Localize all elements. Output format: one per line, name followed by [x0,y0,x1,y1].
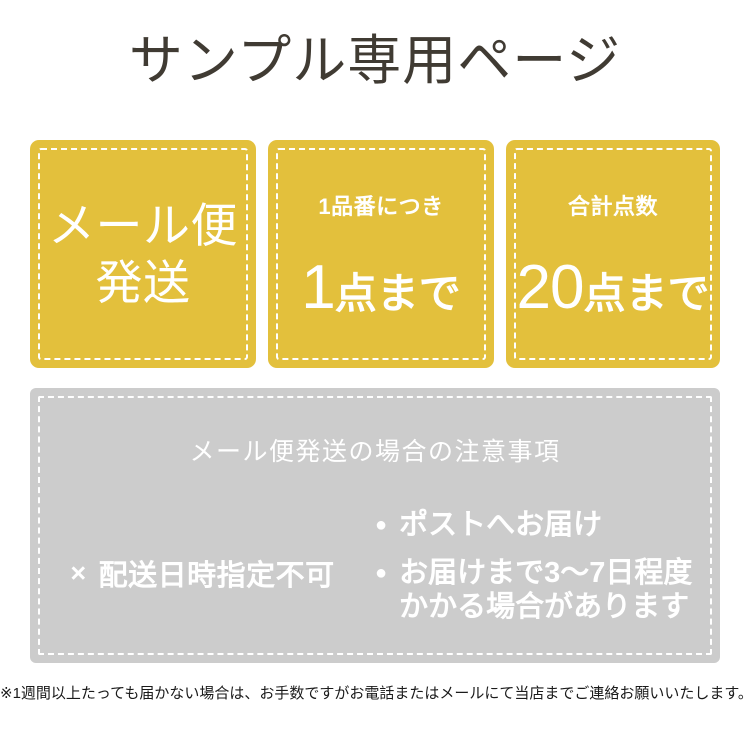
card-total-limit-content: 合計点数 20 点まで [506,140,720,368]
no-date-specification: × 配送日時指定不可 [70,552,334,594]
notice-body: × 配送日時指定不可 ● ポストへお届け ● お届けまで3〜7日程度 かかる場合… [30,506,720,646]
card-mail-delivery: メール便 発送 [30,140,256,368]
page-title: サンプル専用ページ [0,32,750,91]
card-total-limit-number: 20 [517,260,584,316]
notice-no-date-column: × 配送日時指定不可 [30,506,375,646]
card-mail-delivery-line-2: 発送 [48,254,238,311]
shipping-info-cards: メール便 発送 1品番につき 1 点まで 合計点数 20 点まで [30,140,720,368]
list-item: ● ポストへお届け [375,508,720,542]
list-item-text: お届けまで3〜7日程度 かかる場合があります [399,556,692,624]
bullet-dot-icon: ● [375,508,387,542]
card-total-limit: 合計点数 20 点まで [506,140,720,368]
list-item-line-2: かかる場合があります [399,590,692,624]
no-date-specification-label: 配送日時指定不可 [99,552,335,594]
card-mail-delivery-text: メール便 発送 [48,197,238,312]
card-per-item-limit-unit: 点まで [335,275,461,313]
notice-panel: メール便発送の場合の注意事項 × 配送日時指定不可 ● ポストへお届け ● [30,388,720,663]
card-total-limit-value: 20 点まで [517,260,710,316]
cross-icon: × [70,560,86,587]
card-per-item-limit-value: 1 点まで [301,260,461,316]
sample-page: サンプル専用ページ メール便 発送 1品番につき 1 点まで 合計点数 [0,0,750,750]
list-item: ● お届けまで3〜7日程度 かかる場合があります [375,556,720,624]
footer-note: ※1週間以上たっても届かない場合は、お手数ですがお電話またはメールにて当店までご… [0,682,750,703]
list-item-line-1: お届けまで3〜7日程度 [399,556,692,590]
card-mail-delivery-line-1: メール便 [48,197,238,254]
card-total-limit-unit: 点まで [583,275,709,313]
list-item-line-1: ポストへお届け [399,509,602,541]
card-per-item-limit-number: 1 [301,260,334,316]
card-per-item-limit: 1品番につき 1 点まで [268,140,494,368]
card-total-limit-label: 合計点数 [568,196,658,218]
list-item-text: ポストへお届け [399,508,602,542]
bullet-dot-icon: ● [375,556,387,590]
card-per-item-limit-label: 1品番につき [318,196,443,218]
card-per-item-limit-content: 1品番につき 1 点まで [268,140,494,368]
notice-heading: メール便発送の場合の注意事項 [30,432,720,468]
notice-bullet-column: ● ポストへお届け ● お届けまで3〜7日程度 かかる場合があります [375,506,720,639]
